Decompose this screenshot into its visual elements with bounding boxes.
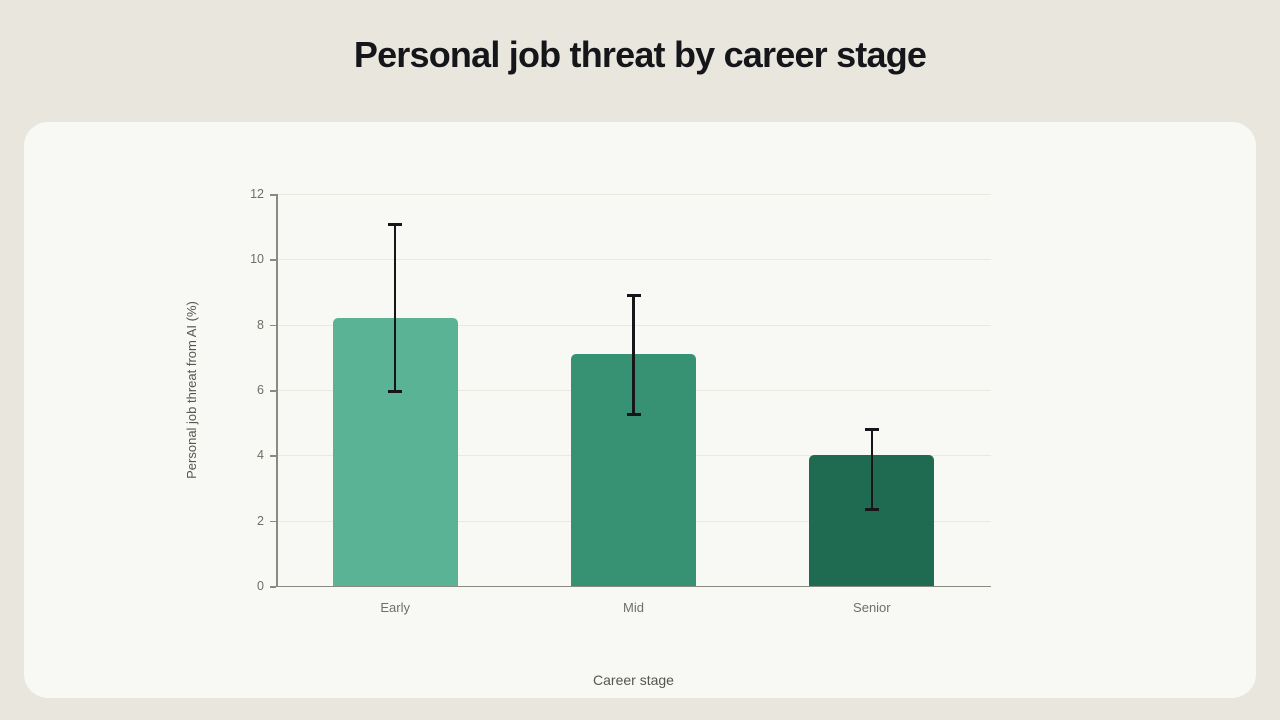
error-bar-cap-lower (388, 390, 402, 393)
y-tick-label: 10 (250, 252, 264, 266)
y-axis-line (276, 194, 278, 586)
x-axis-title: Career stage (276, 672, 991, 688)
x-tick-label-early: Early (380, 600, 410, 615)
error-bar-cap-lower (865, 508, 879, 511)
error-bar-cap-lower (627, 413, 641, 416)
error-bar-line (394, 223, 397, 393)
error-bar-cap-upper (865, 428, 879, 431)
y-tick-label: 6 (257, 383, 264, 397)
y-tick-label: 2 (257, 514, 264, 528)
y-axis-title: Personal job threat from AI (%) (184, 194, 206, 586)
gridline (276, 194, 991, 195)
page-title: Personal job threat by career stage (0, 0, 1280, 110)
error-bar-line (871, 428, 874, 511)
chart-plot-wrapper: 024681012 EarlyMidSenior Personal job th… (24, 122, 1256, 698)
y-tick-label: 4 (257, 448, 264, 462)
x-tick-label-mid: Mid (623, 600, 644, 615)
gridline (276, 259, 991, 260)
error-bar-cap-upper (388, 223, 402, 226)
y-tick-label: 12 (250, 187, 264, 201)
chart-card: 024681012 EarlyMidSenior Personal job th… (24, 122, 1256, 698)
error-bar-line (632, 294, 635, 417)
y-tick-label: 0 (257, 579, 264, 593)
plot-area: 024681012 EarlyMidSenior (276, 194, 991, 586)
error-bar-cap-upper (627, 294, 641, 297)
y-tick-label: 8 (257, 318, 264, 332)
x-tick-label-senior: Senior (853, 600, 891, 615)
x-axis-line (276, 586, 991, 588)
